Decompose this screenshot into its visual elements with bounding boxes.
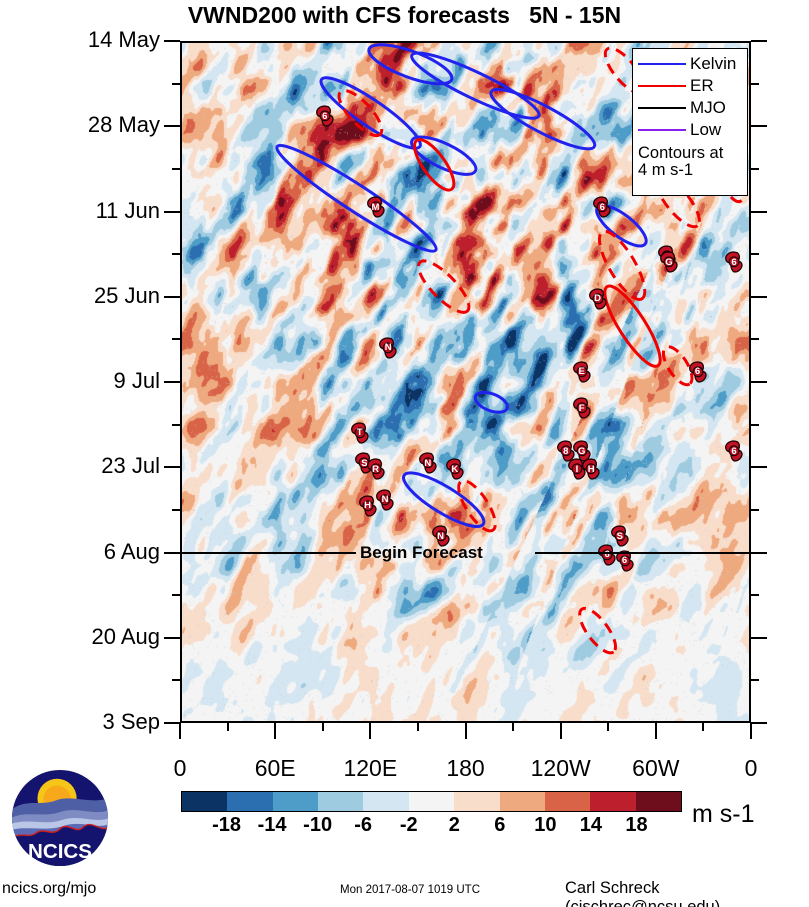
x-tick-minor <box>417 723 419 731</box>
y-tick-minor-right <box>751 679 759 681</box>
y-tick-major-right <box>751 125 767 127</box>
footer-author: Carl Schreck (cjschrec@ncsu.edu) <box>565 879 809 907</box>
y-axis-label: 11 Jun <box>14 198 160 224</box>
legend-swatch-mjo <box>638 107 686 110</box>
colorbar-cell-4 <box>363 792 408 811</box>
legend-entry-kelvin: Kelvin <box>638 53 742 75</box>
y-tick-major-right <box>751 637 767 639</box>
footer-timestamp: Mon 2017-08-07 1019 UTC <box>340 884 480 896</box>
y-tick-major-right <box>751 381 767 383</box>
colorbar-cell-6 <box>454 792 499 811</box>
x-axis-label: 120E <box>343 755 397 782</box>
y-tick-major <box>164 296 180 298</box>
colorbar-tick: 2 <box>449 814 460 837</box>
colorbar-tick: -10 <box>303 814 332 837</box>
footer-link[interactable]: ncics.org/mjo <box>2 880 96 898</box>
wave-type-legend: Kelvin ER MJO Low Contours at 4 m s-1 <box>632 48 748 196</box>
legend-label-kelvin: Kelvin <box>690 54 736 74</box>
colorbar-cell-10 <box>636 792 681 811</box>
legend-contour-note: Contours at 4 m s-1 <box>638 145 742 179</box>
begin-forecast-line-left <box>180 552 356 555</box>
y-tick-minor <box>172 338 180 340</box>
y-tick-major <box>164 381 180 383</box>
colorbar-tick: -18 <box>212 814 241 837</box>
colorbar-tick: 6 <box>494 814 505 837</box>
x-tick-major <box>750 723 752 739</box>
y-axis-label: 25 Jun <box>14 283 160 309</box>
x-axis-label: 0 <box>745 755 758 782</box>
colorbar <box>181 791 682 812</box>
legend-swatch-er <box>638 85 686 88</box>
colorbar-tick: 18 <box>625 814 647 837</box>
colorbar-unit-label: m s-1 <box>692 800 755 829</box>
x-axis-label: 180 <box>446 755 484 782</box>
x-axis-label: 0 <box>174 755 187 782</box>
y-tick-minor-right <box>751 338 759 340</box>
colorbar-tick: 10 <box>534 814 556 837</box>
y-axis-label: 23 Jul <box>14 453 160 479</box>
legend-label-mjo: MJO <box>690 98 726 118</box>
wave-contour-er <box>573 603 621 658</box>
x-tick-major <box>560 723 562 739</box>
y-tick-major-right <box>751 466 767 468</box>
y-tick-major-right <box>751 40 767 42</box>
y-tick-major <box>164 211 180 213</box>
colorbar-cell-1 <box>227 792 272 811</box>
x-tick-major <box>655 723 657 739</box>
colorbar-tick: -2 <box>400 814 418 837</box>
y-tick-minor-right <box>751 168 759 170</box>
y-tick-minor <box>172 679 180 681</box>
y-axis-label: 3 Sep <box>14 709 160 735</box>
y-tick-major-right <box>751 552 767 554</box>
wave-contour-er <box>412 254 476 319</box>
y-tick-minor <box>172 253 180 255</box>
colorbar-tick: -14 <box>258 814 287 837</box>
legend-entry-mjo: MJO <box>638 97 742 119</box>
begin-forecast-label: Begin Forecast <box>360 543 483 563</box>
x-tick-minor <box>227 723 229 731</box>
y-axis-label: 20 Aug <box>14 624 160 650</box>
y-tick-minor <box>172 509 180 511</box>
hovmoller-figure: VWND200 with CFS forecasts 5N - 15N 6B6M… <box>0 0 809 907</box>
x-tick-major <box>274 723 276 739</box>
legend-label-low: Low <box>690 120 721 140</box>
y-tick-minor <box>172 594 180 596</box>
begin-forecast-line-right <box>535 552 751 555</box>
x-axis-label: 120W <box>531 755 591 782</box>
y-tick-major <box>164 722 180 724</box>
colorbar-cell-5 <box>409 792 454 811</box>
ncics-logo: NCICS <box>11 769 109 867</box>
colorbar-cell-7 <box>500 792 545 811</box>
y-tick-minor <box>172 83 180 85</box>
y-tick-major-right <box>751 296 767 298</box>
x-tick-major <box>465 723 467 739</box>
legend-label-er: ER <box>690 76 714 96</box>
colorbar-cell-9 <box>590 792 635 811</box>
y-tick-major <box>164 40 180 42</box>
x-tick-minor <box>607 723 609 731</box>
colorbar-cell-0 <box>182 792 227 811</box>
legend-entry-er: ER <box>638 75 742 97</box>
legend-swatch-kelvin <box>638 63 686 66</box>
x-tick-minor <box>322 723 324 731</box>
colorbar-cell-2 <box>273 792 318 811</box>
y-tick-minor-right <box>751 594 759 596</box>
wave-contour-kelvin <box>472 388 510 416</box>
y-tick-major <box>164 637 180 639</box>
colorbar-cell-8 <box>545 792 590 811</box>
legend-note-line1: Contours at <box>638 145 742 162</box>
y-tick-major-right <box>751 722 767 724</box>
wave-contour-er <box>333 84 388 141</box>
y-tick-minor <box>172 168 180 170</box>
logo-text: NCICS <box>28 840 92 863</box>
y-tick-minor <box>172 424 180 426</box>
legend-entry-low: Low <box>638 119 742 141</box>
y-tick-major <box>164 552 180 554</box>
y-axis-label: 28 May <box>14 112 160 138</box>
colorbar-tick: 14 <box>580 814 602 837</box>
x-tick-minor <box>702 723 704 731</box>
y-tick-minor-right <box>751 83 759 85</box>
y-axis-label: 6 Aug <box>14 539 160 565</box>
y-axis-label: 14 May <box>14 27 160 53</box>
wave-contour-kelvin <box>485 80 600 158</box>
legend-swatch-low <box>638 129 686 132</box>
page-title: VWND200 with CFS forecasts 5N - 15N <box>0 2 809 29</box>
y-tick-major-right <box>751 211 767 213</box>
y-tick-major <box>164 466 180 468</box>
x-tick-major <box>179 723 181 739</box>
y-tick-minor-right <box>751 253 759 255</box>
colorbar-tick: -6 <box>354 814 372 837</box>
x-axis-label: 60W <box>632 755 679 782</box>
y-tick-minor-right <box>751 424 759 426</box>
x-tick-major <box>369 723 371 739</box>
y-axis-label: 9 Jul <box>14 368 160 394</box>
y-tick-major <box>164 125 180 127</box>
legend-note-line2: 4 m s-1 <box>638 162 742 179</box>
x-axis-label: 60E <box>255 755 296 782</box>
x-tick-minor <box>512 723 514 731</box>
y-tick-minor-right <box>751 509 759 511</box>
colorbar-cell-3 <box>318 792 363 811</box>
